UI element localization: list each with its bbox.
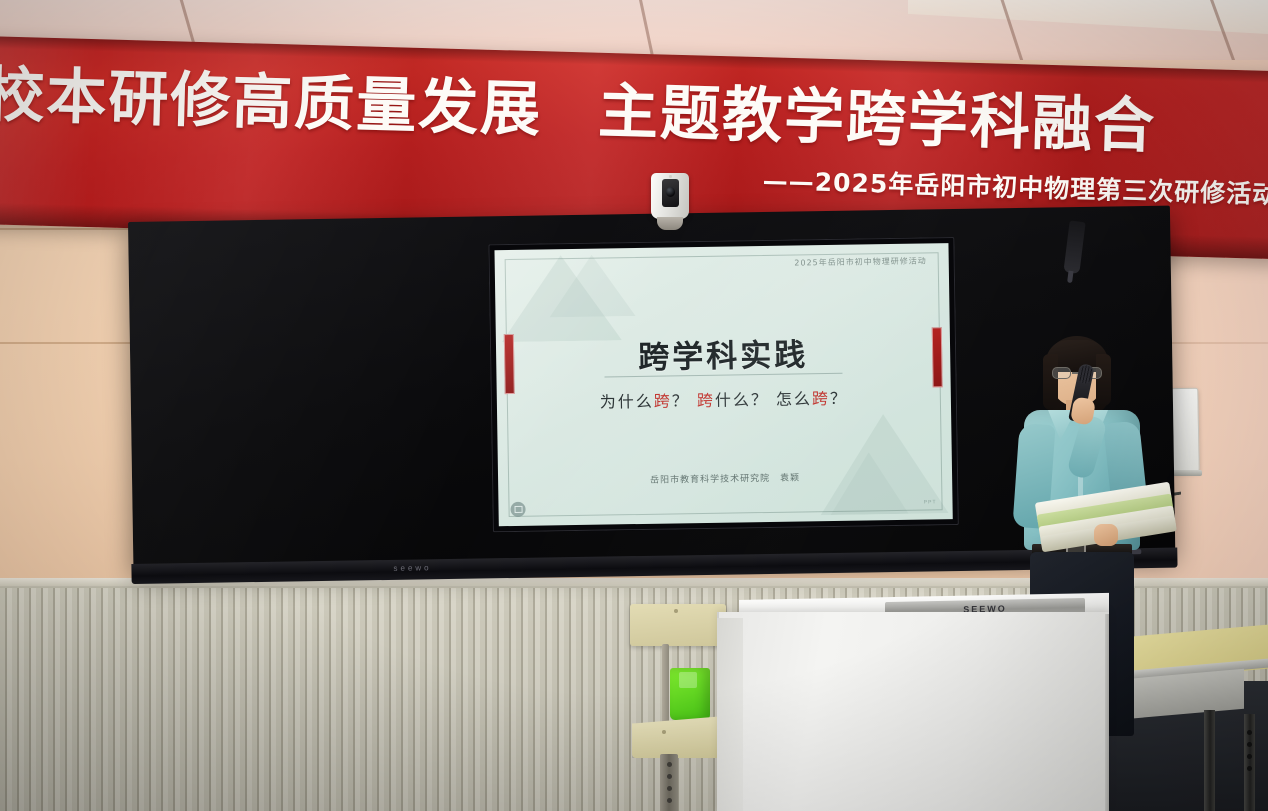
- camera-led-icon: [669, 175, 672, 178]
- lectern-front-panel: [717, 612, 1109, 811]
- display-bezel: 2025年岳阳市初中物理研修活动 跨学科实践 为什么跨？ 跨什么？ 怎么跨？ 岳…: [488, 237, 958, 532]
- stool-leg: [660, 754, 678, 811]
- ptz-camera: [648, 173, 692, 235]
- desk-leg: [1244, 714, 1255, 811]
- slide-subtitle-part: ？: [830, 389, 848, 408]
- slide-subtitle-part: 为什么: [600, 392, 654, 412]
- slide-subtitle-highlight: 跨: [812, 389, 830, 408]
- lectern-side-panel: [717, 618, 743, 811]
- hair-side: [1096, 354, 1111, 406]
- banner-text-left: 校本研修高质量发展: [0, 60, 543, 145]
- display-brand-label: seewo: [393, 563, 431, 573]
- green-plastic-bin[interactable]: [670, 668, 710, 720]
- slide-subtitle-part: ？: [672, 391, 697, 410]
- slide-subtitle-part: 什么？ 怎么: [715, 389, 812, 410]
- lectern[interactable]: SEEWO: [717, 594, 1109, 811]
- lectern-right-edge: [1105, 614, 1109, 811]
- slide-subtitle-highlight: 跨: [654, 391, 672, 410]
- slide-title: 跨学科实践: [496, 327, 951, 379]
- desk-leg: [1204, 710, 1215, 811]
- camera-mount: [657, 217, 683, 230]
- hand-holding-papers: [1094, 524, 1118, 546]
- presentation-screen[interactable]: 2025年岳阳市初中物理研修活动 跨学科实践 为什么跨？ 跨什么？ 怎么跨？ 岳…: [494, 243, 952, 526]
- stool-backrest: [630, 604, 726, 646]
- slide-subtitle-highlight: 跨: [697, 391, 715, 410]
- camera-body: [651, 173, 689, 219]
- slide-watermark: PPT: [924, 499, 937, 505]
- stool-post: [662, 644, 669, 724]
- camera-lens-icon: [662, 179, 679, 207]
- hair-side: [1043, 354, 1058, 410]
- slide-header-text: 2025年岳阳市初中物理研修活动: [794, 255, 927, 268]
- classroom-scene: 校本研修高质量发展主题教学跨学科融合 ——2025年岳阳市初中物理第三次研修活动…: [0, 0, 1268, 811]
